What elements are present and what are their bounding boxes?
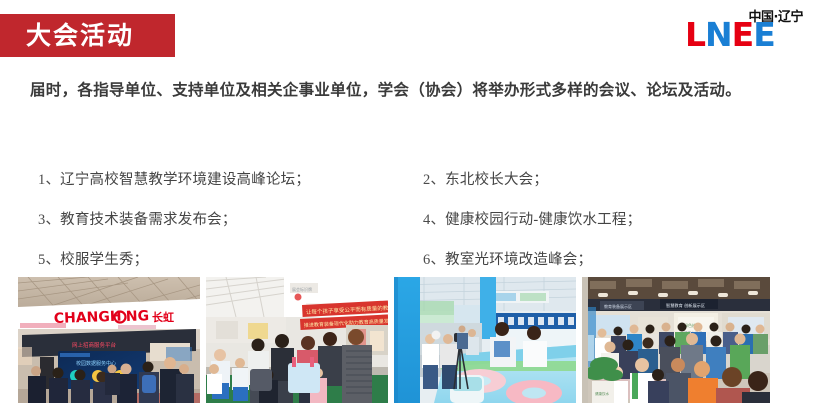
svg-text:展会标识牌: 展会标识牌 [292, 286, 312, 292]
list-item-label: 教育技术装备需求发布会； [60, 208, 236, 229]
photo-strip: CHANGH NG 长虹 网上招商服务平台 校园数据服务中心 [18, 277, 770, 403]
list-item: 6、教室光环境改造峰会； [423, 248, 798, 269]
list-item: 5、校服学生秀； [38, 248, 423, 269]
exhibition-aisle-crowd-photo: 展会标识牌 让每个孩子享受公平而有质量的教育 推进教育装备现代化助力教育高质量发… [206, 277, 388, 403]
intro-paragraph: 届时，各指导单位、支持单位及相关企事业单位，学会（协会）将举办形式多样的会议、论… [30, 76, 790, 105]
list-item-label: 健康校园行动-健康饮水工程； [445, 208, 641, 229]
logo-letter-l: L [685, 15, 705, 54]
changhong-booth-image: CHANGH NG 长虹 网上招商服务平台 校园数据服务中心 [18, 277, 200, 403]
svg-text:NG: NG [126, 308, 150, 325]
svg-text:智慧教育 创新展示区: 智慧教育 创新展示区 [666, 302, 705, 309]
list-item-number: 3、 [38, 208, 60, 229]
svg-text:健康饮水: 健康饮水 [595, 391, 609, 396]
svg-text:长虹: 长虹 [152, 310, 174, 324]
list-item-label: 东北校长大会； [445, 168, 548, 189]
list-item: 1、辽宁高校智慧教学环境建设高峰论坛； [38, 168, 423, 189]
list-item-number: 4、 [423, 208, 445, 229]
exhibition-aisle-image: 展会标识牌 让每个孩子享受公平而有质量的教育 推进教育装备现代化助力教育高质量发… [206, 277, 388, 403]
list-item-label: 辽宁高校智慧教学环境建设高峰论坛； [60, 168, 310, 189]
list-item-number: 1、 [38, 168, 60, 189]
changhong-booth-photo: CHANGH NG 长虹 网上招商服务平台 校园数据服务中心 [18, 277, 200, 403]
activity-list: 1、辽宁高校智慧教学环境建设高峰论坛； 2、东北校长大会； 3、教育技术装备需求… [38, 158, 798, 278]
logo-letter-n: N [705, 15, 732, 54]
page-title: 大会活动 [26, 18, 176, 54]
logo-letter-e2: E [753, 15, 775, 54]
list-item-number: 6、 [423, 248, 445, 269]
list-item: 4、健康校园行动-健康饮水工程； [423, 208, 798, 229]
water-pool-exhibit-photo [394, 277, 576, 403]
list-item-label: 教室光环境改造峰会； [445, 248, 592, 269]
logo-wordmark: LNEE [685, 18, 775, 52]
list-item: 3、教育技术装备需求发布会； [38, 208, 423, 229]
exhibition-hall-crowd-photo: 教育装备展示区 智慧教育 创新展示区 绿色校园 健康水工程 [582, 277, 770, 403]
svg-text:教育装备展示区: 教育装备展示区 [604, 303, 632, 309]
lnee-logo: 中国·辽宁 LNEE [685, 6, 805, 54]
list-item-label: 校服学生秀； [60, 248, 148, 269]
list-item-number: 2、 [423, 168, 445, 189]
exhibition-hall-crowd-image: 教育装备展示区 智慧教育 创新展示区 绿色校园 健康水工程 [582, 277, 770, 403]
list-item-number: 5、 [38, 248, 60, 269]
water-pool-exhibit-image [394, 277, 576, 403]
list-item: 2、东北校长大会； [423, 168, 798, 189]
svg-text:网上招商服务平台: 网上招商服务平台 [72, 341, 117, 349]
logo-letter-e1: E [732, 15, 754, 54]
